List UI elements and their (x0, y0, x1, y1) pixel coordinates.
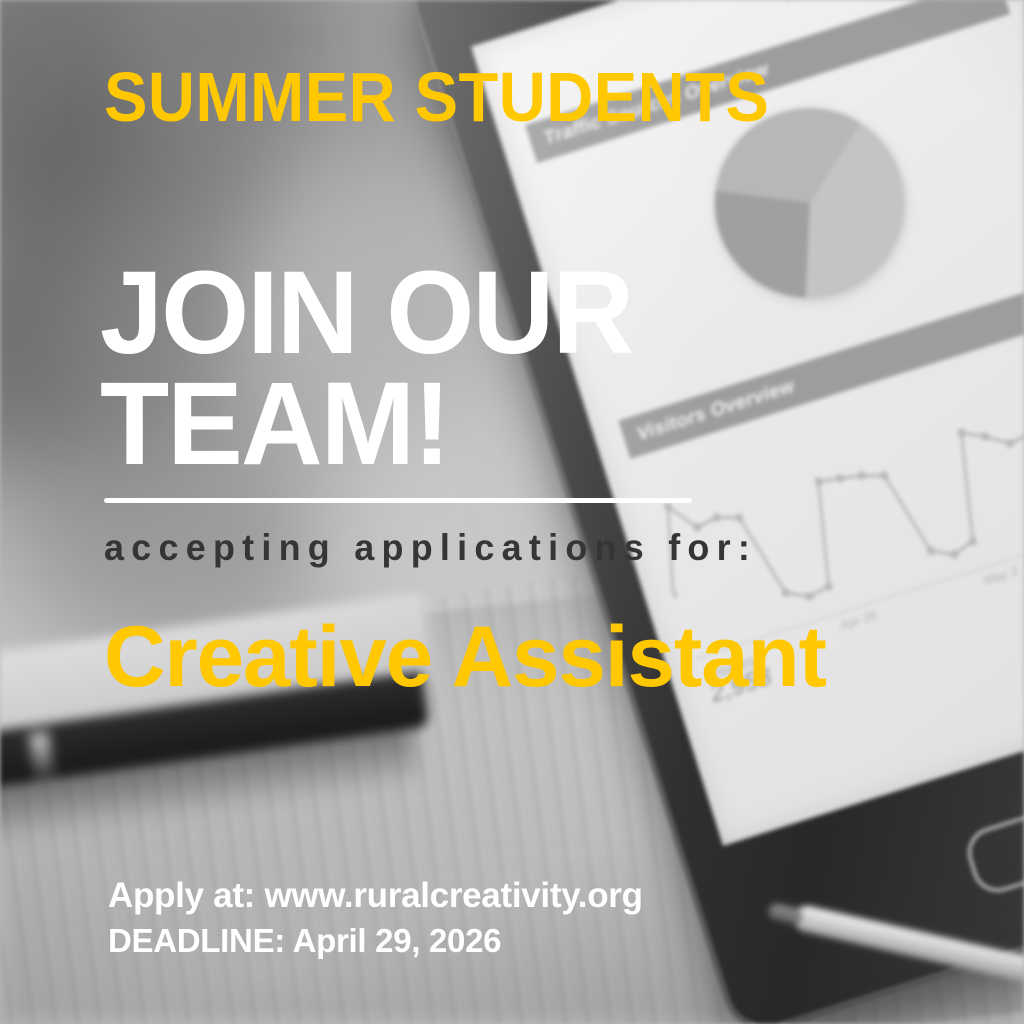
main-headline: JOIN OUR TEAM! (100, 258, 632, 480)
deadline-line: DEADLINE: April 29, 2026 (108, 922, 501, 960)
poster-canvas: Avg Depth 3.32 Pages Traffic Sources Ove… (0, 0, 1024, 1024)
headline-line-2: TEAM! (100, 369, 632, 480)
apply-url-line: Apply at: www.ruralcreativity.org (108, 876, 643, 916)
role-title: Creative Assistant (104, 608, 826, 707)
text-overlay: SUMMER STUDENTS JOIN OUR TEAM! accepting… (0, 0, 1024, 1024)
subheading: accepting applications for: (104, 527, 757, 569)
headline-line-1: JOIN OUR (100, 258, 632, 369)
divider-rule (104, 498, 692, 503)
eyebrow-heading: SUMMER STUDENTS (104, 62, 769, 132)
